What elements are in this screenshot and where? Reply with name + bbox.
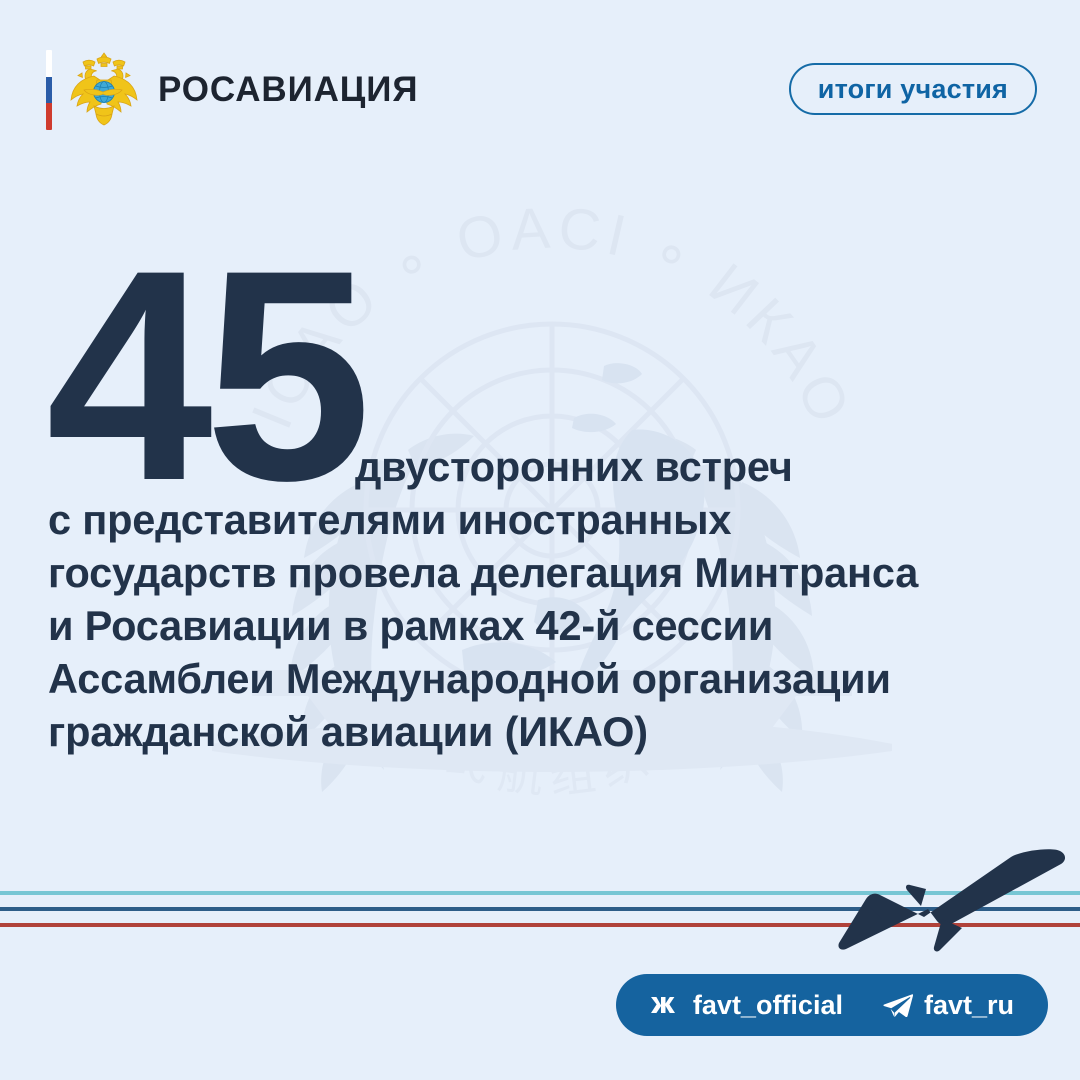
social-link-vk[interactable]: favt_official	[650, 990, 843, 1021]
brand-name: РОСАВИАЦИЯ	[158, 70, 418, 110]
brand-lockup: РОСАВИАЦИЯ	[46, 48, 418, 132]
airplane-takeoff-silhouette	[822, 845, 1070, 957]
headline-text: двусторонних встреч с представителями ин…	[48, 440, 1058, 758]
poster-header: РОСАВИАЦИЯ итоги участия	[0, 0, 1080, 150]
social-links-pill: favt_official favt_ru	[616, 974, 1048, 1036]
tag-badge: итоги участия	[789, 63, 1037, 115]
social-link-telegram[interactable]: favt_ru	[883, 990, 1014, 1021]
russian-double-headed-eagle-emblem	[66, 50, 142, 130]
headline-line-4: и Росавиации в рамках 42-й сессии	[48, 599, 1058, 652]
headline-line-6: гражданской авиации (ИКАО)	[48, 705, 1058, 758]
headline-line-3: государств провела делегация Минтранса	[48, 546, 1058, 599]
social-handle-telegram: favt_ru	[924, 990, 1014, 1021]
headline-line-1: двусторонних встреч	[48, 440, 1058, 493]
headline-line-5: Ассамблеи Международной организации	[48, 652, 1058, 705]
telegram-icon	[883, 993, 913, 1017]
vk-icon	[650, 995, 682, 1015]
headline-line-2: с представителями иностранных	[48, 493, 1058, 546]
russian-flag-bar-icon	[46, 50, 52, 130]
poster-canvas: ICAO ∘ OACI ∘ ИКАО 国际民航组织 ∘ ٩	[0, 0, 1080, 1080]
social-handle-vk: favt_official	[693, 990, 843, 1021]
